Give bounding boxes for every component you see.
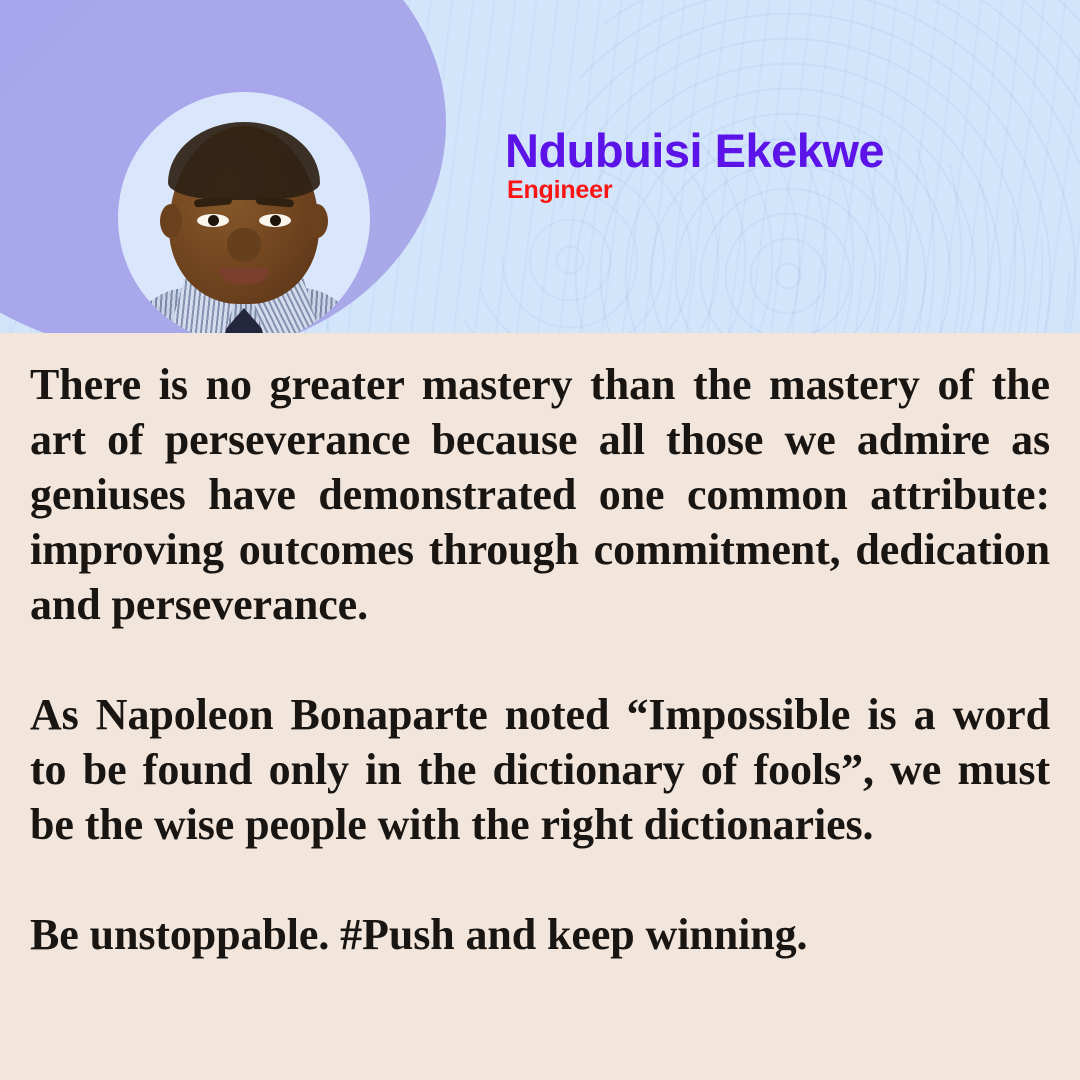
paragraph-spacer: [30, 852, 1050, 907]
portrait-pupil-left: [208, 215, 219, 226]
person-identity-block: Ndubuisi Ekekwe Engineer: [505, 126, 884, 204]
portrait-eye-left: [197, 214, 229, 227]
quote-paragraph-2: As Napoleon Bonaparte noted “Impossible …: [30, 687, 1050, 852]
portrait-ear-right: [306, 204, 328, 238]
portrait-hair: [168, 122, 320, 200]
paragraph-spacer: [30, 632, 1050, 687]
person-name: Ndubuisi Ekekwe: [505, 126, 884, 175]
person-role: Engineer: [507, 177, 884, 203]
portrait-pupil-right: [270, 215, 281, 226]
quote-card: Ndubuisi Ekekwe Engineer There is no gre…: [0, 0, 1080, 1080]
quote-paragraph-3: Be unstoppable. #Push and keep winning.: [30, 907, 1050, 962]
portrait-nose: [227, 228, 261, 262]
portrait-ear-left: [160, 204, 182, 238]
portrait-eye-right: [259, 214, 291, 227]
hero-banner: Ndubuisi Ekekwe Engineer: [0, 0, 1080, 333]
quote-paragraph-1: There is no greater mastery than the mas…: [30, 357, 1050, 632]
avatar: [118, 92, 370, 333]
quote-body: There is no greater mastery than the mas…: [0, 333, 1080, 1080]
portrait-illustration: [118, 92, 370, 333]
